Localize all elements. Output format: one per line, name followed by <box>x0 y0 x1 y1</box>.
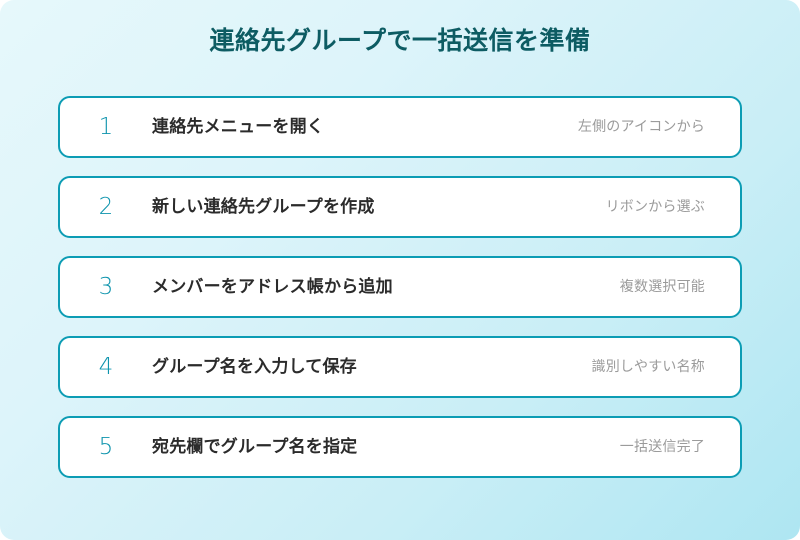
step-hint: 識別しやすい名称 <box>592 359 740 376</box>
step-label: 宛先欄でグループ名を指定 <box>152 437 620 457</box>
step-card[interactable]: 4 グループ名を入力して保存 識別しやすい名称 <box>58 336 742 398</box>
step-hint: 一括送信完了 <box>620 439 740 456</box>
step-number: 1 <box>60 116 152 139</box>
step-number: 3 <box>60 276 152 299</box>
step-label: グループ名を入力して保存 <box>152 357 592 377</box>
step-card[interactable]: 2 新しい連絡先グループを作成 リボンから選ぶ <box>58 176 742 238</box>
step-card[interactable]: 5 宛先欄でグループ名を指定 一括送信完了 <box>58 416 742 478</box>
step-card[interactable]: 3 メンバーをアドレス帳から追加 複数選択可能 <box>58 256 742 318</box>
step-label: 連絡先メニューを開く <box>152 117 578 137</box>
step-hint: リボンから選ぶ <box>606 199 740 216</box>
infographic-canvas: 連絡先グループで一括送信を準備 1 連絡先メニューを開く 左側のアイコンから 2… <box>0 0 800 540</box>
step-card[interactable]: 1 連絡先メニューを開く 左側のアイコンから <box>58 96 742 158</box>
page-title: 連絡先グループで一括送信を準備 <box>0 24 800 58</box>
step-hint: 左側のアイコンから <box>578 119 740 136</box>
step-label: 新しい連絡先グループを作成 <box>152 197 606 217</box>
steps-list: 1 連絡先メニューを開く 左側のアイコンから 2 新しい連絡先グループを作成 リ… <box>58 96 742 478</box>
step-label: メンバーをアドレス帳から追加 <box>152 277 620 297</box>
step-number: 5 <box>60 436 152 459</box>
step-number: 4 <box>60 356 152 379</box>
step-number: 2 <box>60 196 152 219</box>
step-hint: 複数選択可能 <box>620 279 740 296</box>
